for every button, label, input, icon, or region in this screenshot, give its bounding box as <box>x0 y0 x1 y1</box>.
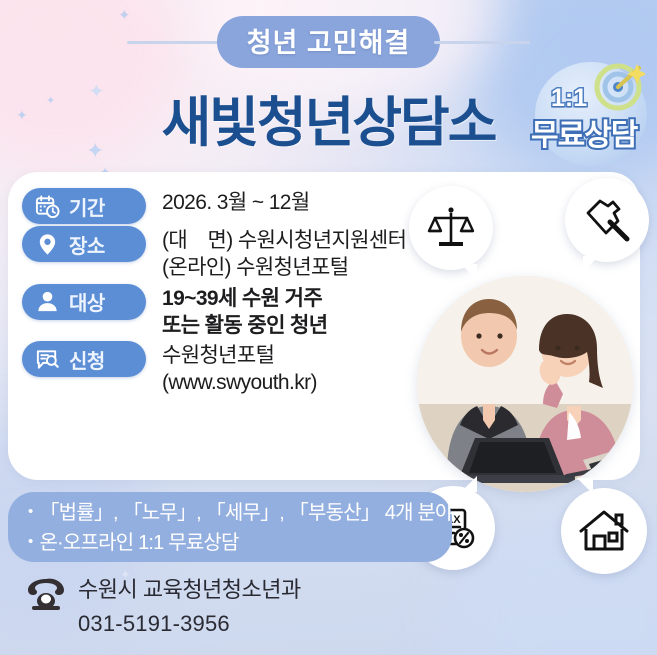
info-row-apply: 신청 수원청년포털 (www.swyouth.kr) <box>22 341 442 397</box>
poster-root: ✦ ✦ ✦ ✦ ✦ ✦ ✦ ✦ ✦ 청년 고민해결 새빛청년상담소 1:1 무료… <box>0 0 657 655</box>
person-icon <box>35 289 60 314</box>
house-icon <box>578 505 630 557</box>
info-value-place: (대 면) 수원시청년지원센터 (온라인) 수원청년포털 <box>146 226 406 282</box>
bubble-tail <box>577 478 593 494</box>
info-line: (온라인) 수원청년포털 <box>162 254 406 281</box>
consultation-photo <box>417 276 633 492</box>
tag-label: 기간 <box>69 192 105 221</box>
fields-bullets-band: • 「법률」, 「노무」, 「세무」, 「부동산」 4개 분야 • 온·오프라인… <box>8 492 452 562</box>
contact-block: 수원시 교육청년청소년과 031-5191-3956 <box>26 573 301 641</box>
calendar-clock-icon <box>35 194 60 219</box>
bullet-text: 「법률」, 「노무」, 「세무」, 「부동산」 4개 분야 <box>39 499 452 529</box>
contact-phone: 031-5191-3956 <box>78 607 301 641</box>
stamp-ratio-text: 1:1 <box>551 84 587 113</box>
info-row-period: 기간 2026. 3월 ~ 12월 <box>22 188 442 224</box>
stamp-free-text: 무료상담 <box>531 110 637 154</box>
tag-label: 장소 <box>69 230 105 259</box>
info-line: 19~39세 수원 거주 <box>162 285 327 312</box>
info-row-target: 대상 19~39세 수원 거주 또는 활동 중인 청년 <box>22 284 442 340</box>
info-value-period: 2026. 3월 ~ 12월 <box>146 188 310 216</box>
info-value-target: 19~39세 수원 거주 또는 활동 중인 청년 <box>146 284 327 340</box>
bullet-item: • 온·오프라인 1:1 무료상담 <box>28 529 452 559</box>
horizontal-rule-icon <box>127 41 223 44</box>
speech-bubble-law <box>409 186 493 270</box>
info-value-apply: 수원청년포털 (www.swyouth.kr) <box>146 341 317 397</box>
info-rows: 기간 2026. 3월 ~ 12월 장소 (대 면) 수원시청년지원센터 <box>22 182 442 399</box>
target-icon <box>593 60 645 112</box>
bullet-marker: • <box>28 499 32 525</box>
bullet-text: 온·오프라인 1:1 무료상담 <box>39 529 238 559</box>
free-consult-stamp: 1:1 무료상담 <box>525 60 651 170</box>
bubble-tail <box>461 264 477 280</box>
hammer-icon <box>582 195 632 245</box>
bullet-marker: • <box>28 529 32 555</box>
telephone-icon <box>26 577 66 611</box>
map-pin-icon <box>35 232 60 257</box>
horizontal-rule-icon <box>434 41 530 44</box>
tag-label: 대상 <box>69 287 105 316</box>
speech-bubble-realestate <box>561 488 647 574</box>
tag-place: 장소 <box>22 226 146 262</box>
info-line: (www.swyouth.kr) <box>162 369 317 396</box>
bullet-item: • 「법률」, 「노무」, 「세무」, 「부동산」 4개 분야 <box>28 499 452 529</box>
info-line: (대 면) 수원시청년지원센터 <box>162 227 406 254</box>
poster-header: 청년 고민해결 새빛청년상담소 1:1 무료상담 <box>0 0 657 175</box>
form-search-icon <box>35 347 60 372</box>
bubble-tail <box>461 476 477 492</box>
tag-apply: 신청 <box>22 341 146 377</box>
contact-department: 수원시 교육청년청소년과 <box>78 573 301 607</box>
info-line: 또는 활동 중인 청년 <box>162 312 327 339</box>
tag-target: 대상 <box>22 284 146 320</box>
info-row-place: 장소 (대 면) 수원시청년지원센터 (온라인) 수원청년포털 <box>22 226 442 282</box>
consultation-illustration <box>417 276 633 492</box>
speech-bubble-labor <box>565 178 649 262</box>
tag-period: 기간 <box>22 188 146 224</box>
info-line: 2026. 3월 ~ 12월 <box>162 189 310 216</box>
kicker-badge: 청년 고민해결 <box>217 16 441 68</box>
tag-label: 신청 <box>69 345 105 374</box>
info-line: 수원청년포털 <box>162 342 317 369</box>
bubble-tail <box>583 256 599 272</box>
scales-of-justice-icon <box>427 204 475 252</box>
contact-text: 수원시 교육청년청소년과 031-5191-3956 <box>78 573 301 641</box>
